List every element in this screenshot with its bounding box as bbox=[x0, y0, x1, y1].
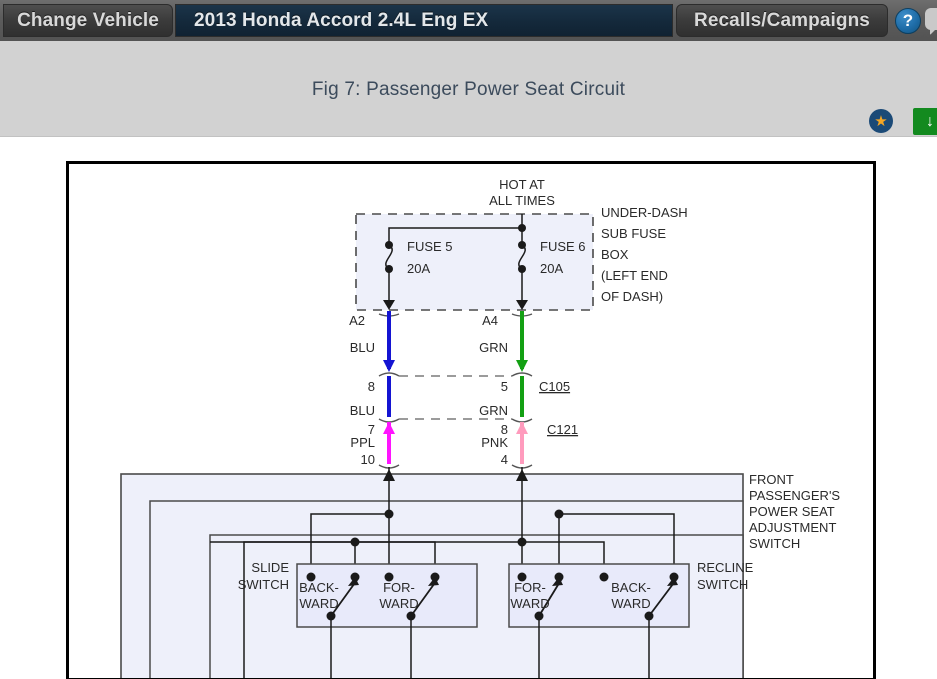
recline-switch-label-2: SWITCH bbox=[697, 577, 748, 592]
slide-forward-label-2: WARD bbox=[379, 596, 418, 611]
slide-switch-label-2: SWITCH bbox=[238, 577, 289, 592]
connector-label-c105: C105 bbox=[539, 379, 570, 394]
chat-bubble-icon[interactable] bbox=[925, 8, 937, 30]
seat-switch-caption-1: FRONT bbox=[749, 472, 794, 487]
fuse-box-caption-1: UNDER-DASH bbox=[601, 205, 688, 220]
fuse6-rating: 20A bbox=[540, 261, 563, 276]
fuse-box-caption-4: (LEFT END bbox=[601, 268, 668, 283]
seat-switch-caption-3: POWER SEAT bbox=[749, 504, 835, 519]
recline-switch-label-1: RECLINE bbox=[697, 560, 754, 575]
fuse-box-caption-5: OF DASH) bbox=[601, 289, 663, 304]
c121-left-cradle bbox=[379, 419, 399, 422]
c105-right-pin: 5 bbox=[501, 379, 508, 394]
wire-color-pnk: PNK bbox=[481, 435, 508, 450]
c121-right-cradle bbox=[512, 419, 532, 422]
seat-switch-caption-4: ADJUSTMENT bbox=[749, 520, 836, 535]
tab-current-vehicle[interactable]: 2013 Honda Accord 2.4L Eng EX bbox=[175, 4, 673, 37]
favorite-star-icon[interactable]: ★ bbox=[869, 109, 893, 133]
help-icon[interactable]: ? bbox=[895, 8, 921, 34]
download-button[interactable]: ↓ bbox=[913, 108, 937, 135]
top-navigation-bar: Change Vehicle 2013 Honda Accord 2.4L En… bbox=[0, 0, 937, 41]
wire-color-ppl: PPL bbox=[350, 435, 375, 450]
fuse-box-caption-2: SUB FUSE bbox=[601, 226, 666, 241]
wire-color-blu-2: BLU bbox=[350, 403, 375, 418]
left-pin-A2: A2 bbox=[349, 313, 365, 328]
wire-color-grn-2: GRN bbox=[479, 403, 508, 418]
tab-change-vehicle[interactable]: Change Vehicle bbox=[3, 4, 173, 37]
fuse6-name: FUSE 6 bbox=[540, 239, 586, 254]
recline-backward-contact-top bbox=[600, 573, 609, 582]
figure-title-bar: Fig 7: Passenger Power Seat Circuit ★ ↓ bbox=[0, 41, 937, 137]
c105-left-cradle bbox=[379, 373, 399, 376]
hot-at-label-line1: HOT AT bbox=[499, 177, 545, 192]
right-pin-A4: A4 bbox=[482, 313, 498, 328]
slide-backward-label-2: WARD bbox=[299, 596, 338, 611]
wire-grn-arrow-1 bbox=[516, 360, 528, 372]
c105-left-pin: 8 bbox=[368, 379, 375, 394]
seat-switch-caption-2: PASSENGER'S bbox=[749, 488, 840, 503]
wire-color-blu-1: BLU bbox=[350, 340, 375, 355]
tab-recalls-campaigns[interactable]: Recalls/Campaigns bbox=[676, 4, 888, 37]
c105-right-cradle bbox=[512, 373, 532, 376]
wire-pnk-arrow bbox=[516, 422, 528, 434]
fuse5-name: FUSE 5 bbox=[407, 239, 453, 254]
slide-backward-label-1: BACK- bbox=[299, 580, 339, 595]
connector-label-c121: C121 bbox=[547, 422, 578, 437]
pnk-pin-4: 4 bbox=[501, 452, 508, 467]
fuse-box-caption-3: BOX bbox=[601, 247, 629, 262]
wire-ppl-arrow bbox=[383, 422, 395, 434]
slide-switch-label-1: SLIDE bbox=[251, 560, 289, 575]
wire-blu-arrow-1 bbox=[383, 360, 395, 372]
fuse5-rating: 20A bbox=[407, 261, 430, 276]
diagram-canvas: HOT AT ALL TIMES FUSE 5 20A FUSE bbox=[0, 138, 937, 679]
wiring-diagram-svg: HOT AT ALL TIMES FUSE 5 20A FUSE bbox=[69, 164, 875, 679]
hot-at-label-line2: ALL TIMES bbox=[489, 193, 555, 208]
seat-switch-caption-5: SWITCH bbox=[749, 536, 800, 551]
recline-forward-label-2: WARD bbox=[510, 596, 549, 611]
recline-backward-label-1: BACK- bbox=[611, 580, 651, 595]
recline-backward-label-2: WARD bbox=[611, 596, 650, 611]
page-title: Fig 7: Passenger Power Seat Circuit bbox=[0, 79, 937, 101]
wire-color-grn-1: GRN bbox=[479, 340, 508, 355]
chat-label: co bbox=[922, 31, 932, 41]
wiring-diagram-frame: HOT AT ALL TIMES FUSE 5 20A FUSE bbox=[66, 161, 876, 679]
slide-forward-label-1: FOR- bbox=[383, 580, 415, 595]
ppl-pin-10: 10 bbox=[361, 452, 375, 467]
recline-forward-label-1: FOR- bbox=[514, 580, 546, 595]
